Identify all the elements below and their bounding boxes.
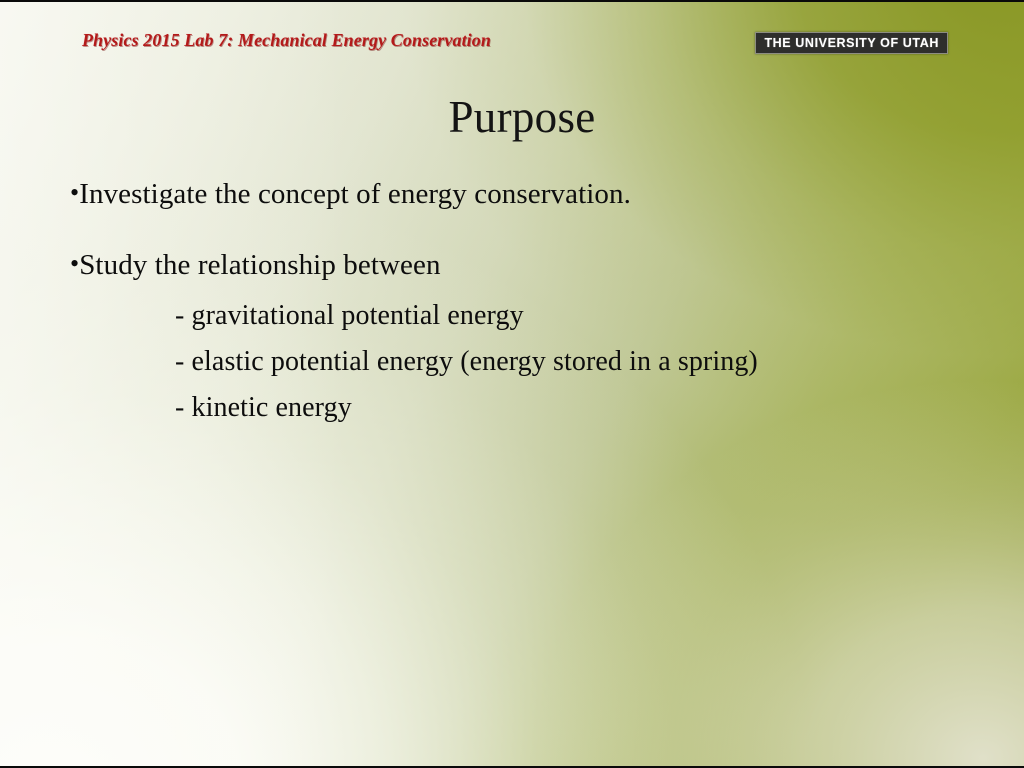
bullet-item: •Study the relationship between	[70, 251, 970, 280]
bullet-marker: •	[70, 178, 79, 207]
bullet-text: Investigate the concept of energy conser…	[79, 178, 631, 210]
slide-body: •Investigate the concept of energy conse…	[70, 180, 970, 422]
slide-canvas: Physics 2015 Lab 7: Mechanical Energy Co…	[0, 0, 1024, 768]
sub-bullet-item: - gravitational potential energy	[175, 280, 970, 330]
bullet-spacer	[70, 209, 970, 251]
sub-bullet-item: - kinetic energy	[175, 376, 970, 422]
page-title: Purpose	[0, 94, 1024, 141]
bullet-item: •Investigate the concept of energy conse…	[70, 180, 970, 209]
sub-bullet-item: - elastic potential energy (energy store…	[175, 330, 970, 376]
university-of-utah-logo: THE UNIVERSITY OF UTAH	[755, 32, 948, 54]
slide-header-course-line: Physics 2015 Lab 7: Mechanical Energy Co…	[82, 30, 491, 51]
bullet-marker: •	[70, 249, 79, 278]
university-of-utah-logo-text: THE UNIVERSITY OF UTAH	[764, 36, 939, 50]
bullet-text: Study the relationship between	[79, 249, 440, 281]
